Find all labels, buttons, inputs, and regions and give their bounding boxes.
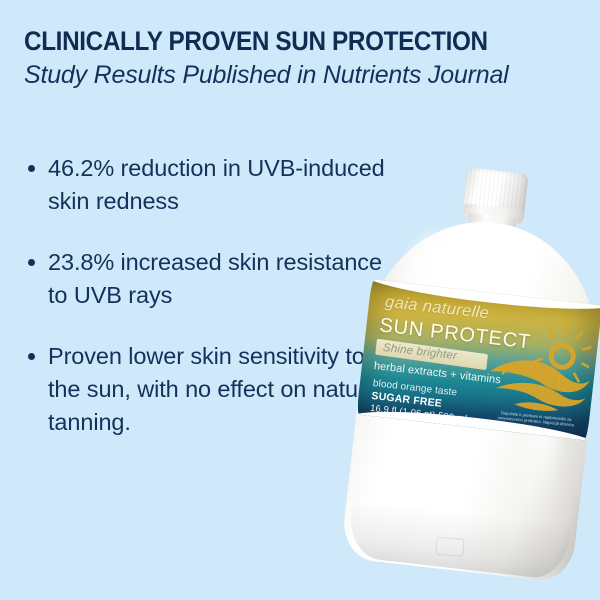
bullet-dot-icon [28, 353, 35, 360]
list-item: 46.2% reduction in UVB-induced skin redn… [26, 152, 398, 218]
product-label: gaia naturelle SUN PROTECT Shine brighte… [356, 279, 600, 440]
product-image: gaia naturelle SUN PROTECT Shine brighte… [352, 160, 600, 600]
claims-list: 46.2% reduction in UVB-induced skin redn… [26, 152, 398, 439]
list-item-text: 23.8% increased skin resistance to UVB r… [48, 249, 382, 308]
list-item-text: 46.2% reduction in UVB-induced skin redn… [48, 155, 385, 214]
page-subtitle: Study Results Published in Nutrients Jou… [24, 61, 584, 90]
list-item: 23.8% increased skin resistance to UVB r… [26, 246, 398, 312]
supplement-bottle: gaia naturelle SUN PROTECT Shine brighte… [323, 146, 600, 600]
poster-canvas: CLINICALLY PROVEN SUN PROTECTION Study R… [0, 0, 600, 600]
list-item-text: Proven lower skin sensitivity to the sun… [48, 343, 384, 435]
recycle-symbol-icon [435, 537, 464, 557]
bullet-dot-icon [28, 259, 35, 266]
page-title: CLINICALLY PROVEN SUN PROTECTION [24, 26, 528, 56]
bullet-dot-icon [28, 165, 35, 172]
